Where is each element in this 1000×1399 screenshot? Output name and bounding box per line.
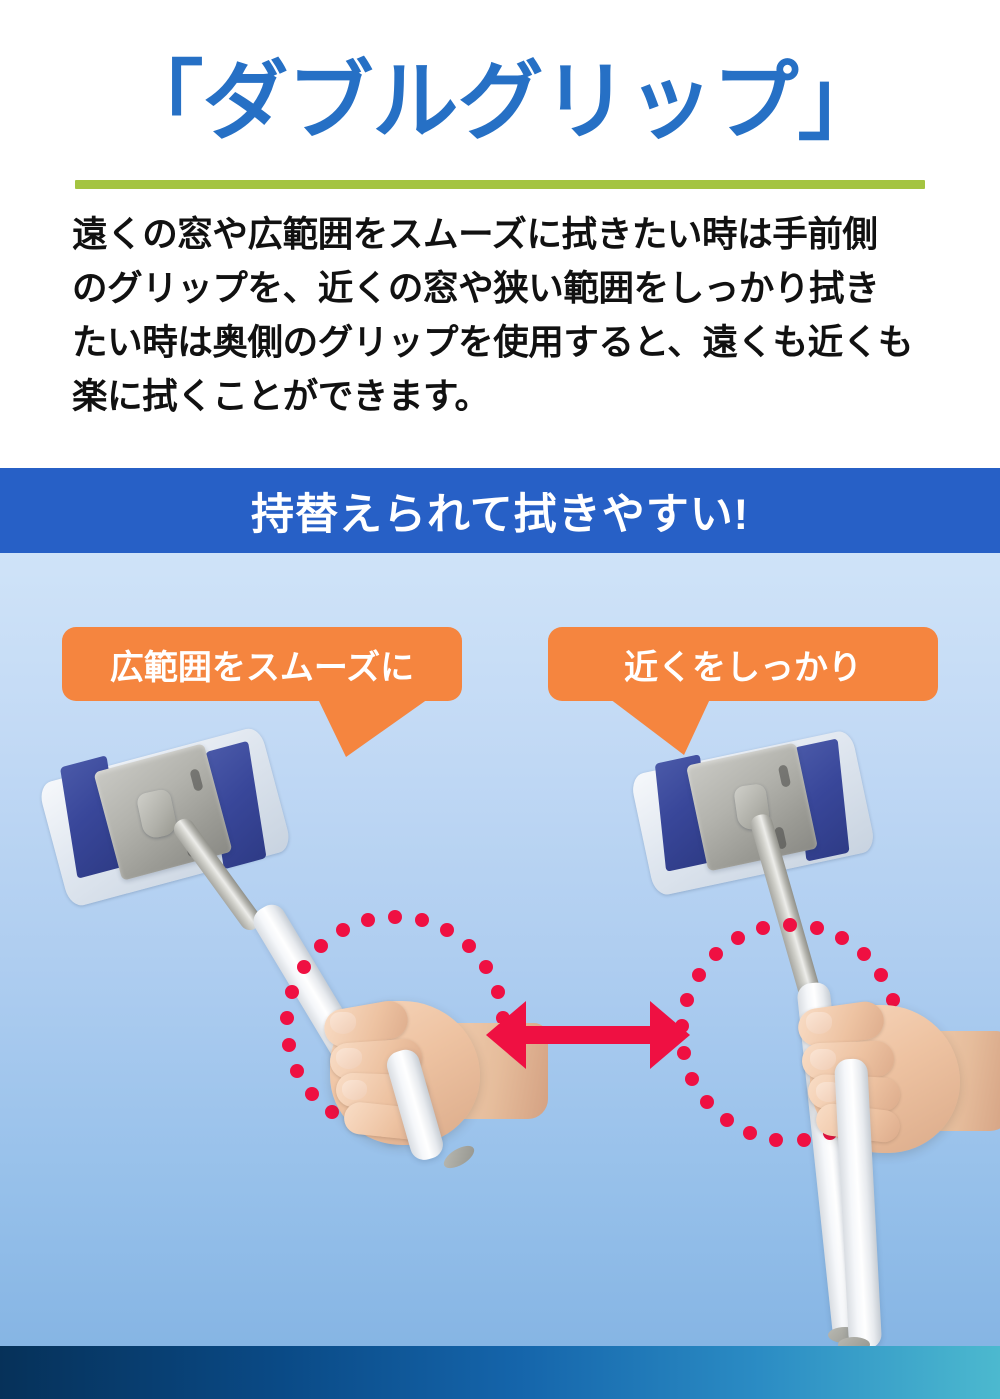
fingernail-right	[810, 1049, 836, 1070]
callout-tail-right	[610, 699, 710, 755]
highlight-dot	[388, 910, 402, 924]
highlight-dot	[810, 921, 824, 935]
fingernail-right	[806, 1012, 832, 1034]
highlight-dot	[440, 923, 454, 937]
fingernail-left	[336, 1048, 362, 1069]
highlight-dot	[305, 1087, 319, 1101]
highlight-dot	[692, 968, 706, 982]
highlight-dot	[280, 1011, 294, 1025]
highlight-dot	[336, 923, 350, 937]
highlight-dot	[700, 1095, 714, 1109]
arrow-head-right-icon	[650, 1001, 690, 1069]
highlight-dot	[731, 931, 745, 945]
highlight-dot	[462, 939, 476, 953]
highlight-dot	[297, 960, 311, 974]
highlight-dot	[290, 1064, 304, 1078]
infographic-page: 「ダブルグリップ」 遠くの窓や広範囲をスムーズに拭きたい時は手前側 のグリップを…	[0, 0, 1000, 1399]
highlight-dot	[743, 1126, 757, 1140]
highlight-dot	[756, 921, 770, 935]
fingernail-left	[342, 1080, 367, 1100]
intro-section: 「ダブルグリップ」 遠くの窓や広範囲をスムーズに拭きたい時は手前側 のグリップを…	[0, 0, 1000, 468]
highlight-dot	[874, 968, 888, 982]
highlight-dot	[285, 985, 299, 999]
description-line: たい時は奥側のグリップを使用すると、遠くも近くも	[72, 316, 934, 370]
highlight-dot	[797, 1133, 811, 1147]
description-block: 遠くの窓や広範囲をスムーズに拭きたい時は手前側 のグリップを、近くの窓や狭い範囲…	[72, 208, 934, 424]
highlight-dot	[835, 931, 849, 945]
highlight-banner-text: 持替えられて拭きやすい!	[0, 468, 1000, 553]
highlight-dot	[325, 1105, 339, 1119]
highlight-dot	[479, 960, 493, 974]
highlight-dot	[857, 947, 871, 961]
handle-end-cap-left	[440, 1141, 477, 1172]
highlight-dot	[769, 1133, 783, 1147]
callout-tail-left	[318, 699, 428, 757]
highlight-dot	[720, 1113, 734, 1127]
product-demo-stage: 広範囲をスムーズに 近くをしっかり	[0, 553, 1000, 1346]
highlight-dot	[783, 918, 797, 932]
highlight-dot	[491, 985, 505, 999]
highlight-dot	[709, 947, 723, 961]
footer-gradient-bar	[0, 1346, 1000, 1399]
description-line: 遠くの窓や広範囲をスムーズに拭きたい時は手前側	[72, 208, 934, 262]
fingernail-left	[330, 1012, 356, 1034]
highlight-dot	[361, 913, 375, 927]
double-headed-arrow	[486, 1000, 690, 1070]
highlight-banner: 持替えられて拭きやすい!	[0, 468, 1000, 553]
handle-end-cap-right-visible	[838, 1337, 870, 1346]
callout-bubble-right: 近くをしっかり	[548, 627, 938, 701]
arrow-shaft	[520, 1026, 656, 1044]
highlight-dot	[685, 1072, 699, 1086]
callout-label-right: 近くをしっかり	[548, 627, 938, 701]
page-title: 「ダブルグリップ」	[0, 56, 1000, 149]
title-underline-rule	[75, 180, 925, 189]
highlight-dot	[314, 939, 328, 953]
highlight-dot	[282, 1038, 296, 1052]
callout-label-left: 広範囲をスムーズに	[62, 627, 462, 701]
highlight-dot	[415, 913, 429, 927]
callout-bubble-left: 広範囲をスムーズに	[62, 627, 462, 701]
description-line: 楽に拭くことができます。	[72, 370, 934, 424]
description-line: のグリップを、近くの窓や狭い範囲をしっかり拭き	[72, 262, 934, 316]
